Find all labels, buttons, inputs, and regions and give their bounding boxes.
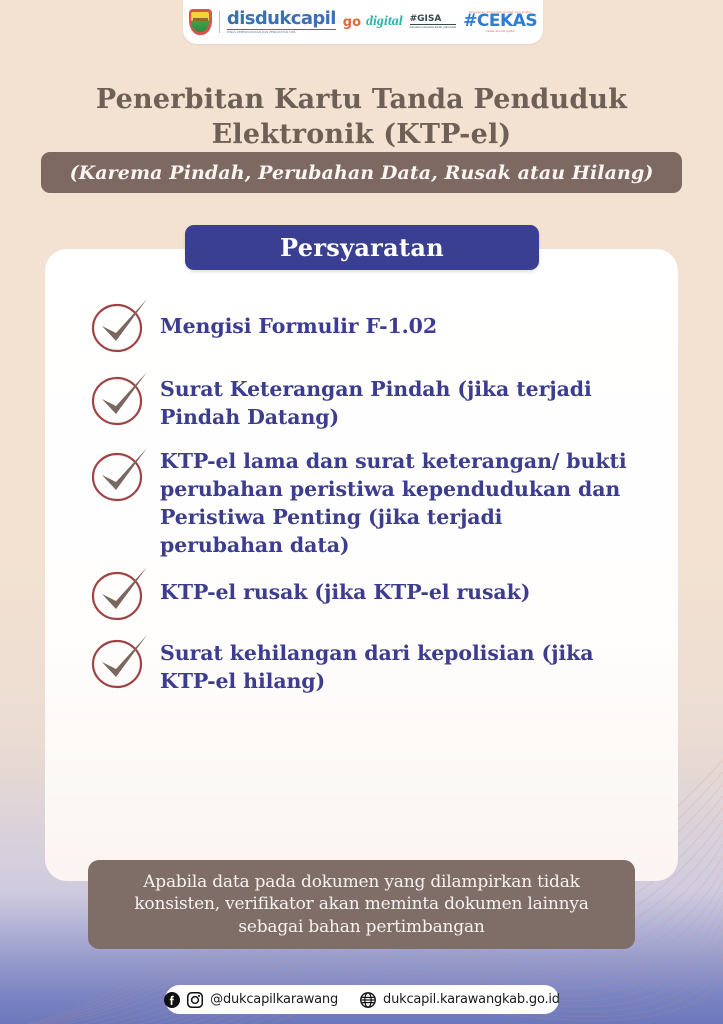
check-circle-icon [90,564,152,624]
gisa-tagline: Gerakan Indonesia Sadar Adminduk [410,24,457,30]
requirement-item: Mengisi Formulir F-1.02 [90,296,670,356]
requirement-text: Surat Keterangan Pindah (jika terjadi Pi… [160,369,630,432]
karawang-crest-icon [189,9,212,35]
go-text: go [343,16,361,29]
check-circle-icon [90,296,152,356]
requirement-text: KTP-el lama dan surat keterangan/ bukti … [160,445,630,560]
disdukcapil-tagline: DINAS KEPENDUDUKAN DAN PENCATATAN SIPIL [227,29,336,35]
logo-bar: disdukcapil DINAS KEPENDUDUKAN DAN PENCA… [183,0,543,44]
globe-icon[interactable] [360,992,376,1008]
website-url[interactable]: dukcapil.karawangkab.go.id [383,992,560,1007]
instagram-icon[interactable] [187,992,203,1008]
check-circle-icon [90,369,152,429]
poster-root: disdukcapil DINAS KEPENDUDUKAN DAN PENCA… [0,0,723,1024]
requirement-text: Mengisi Formulir F-1.02 [160,296,437,340]
social-handle[interactable]: @dukcapilkarawang [210,992,338,1007]
gisa-logo: #GISA Gerakan Indonesia Sadar Adminduk [410,15,457,30]
page-title-line1: Penerbitan Kartu Tanda Penduduk [40,82,683,117]
page-title-line2: Elektronik (KTP-el) [40,117,683,152]
gisa-wordmark: #GISA [410,15,457,24]
cekas-logo: Pelayanan adminduk mudah dan gratis #CEK… [463,11,537,34]
note-text: Apabila data pada dokumen yang dilampirk… [102,871,621,939]
requirement-item: KTP-el lama dan surat keterangan/ bukti … [90,445,670,560]
go-digital-logo: go digital [343,15,403,29]
check-circle-icon [90,445,152,505]
subtitle-bar: (Karema Pindah, Perubahan Data, Rusak at… [41,152,682,193]
requirement-item: Surat Keterangan Pindah (jika terjadi Pi… [90,369,670,432]
persyaratan-banner: Persyaratan [185,225,539,270]
subtitle-text: (Karema Pindah, Perubahan Data, Rusak at… [70,162,654,184]
footer-contact-bar: @dukcapilkarawang dukcapil.karawangkab.g… [165,985,559,1014]
cekas-wordmark: #CEKAS [463,13,537,30]
digital-text: digital [366,15,403,29]
requirement-text: Surat kehilangan dari kepolisian (jika K… [160,632,630,696]
facebook-icon[interactable] [164,992,180,1008]
logo-divider [219,11,220,33]
disdukcapil-logo: disdukcapil DINAS KEPENDUDUKAN DAN PENCA… [227,10,336,35]
requirement-item: Surat kehilangan dari kepolisian (jika K… [90,632,670,696]
persyaratan-label: Persyaratan [280,233,444,262]
note-box: Apabila data pada dokumen yang dilampirk… [88,860,635,949]
disdukcapil-wordmark: disdukcapil [227,10,336,28]
check-circle-icon [90,632,152,692]
requirement-text: KTP-el rusak (jika KTP-el rusak) [160,564,530,606]
requirement-item: KTP-el rusak (jika KTP-el rusak) [90,564,670,624]
page-title: Penerbitan Kartu Tanda Penduduk Elektron… [0,82,723,152]
requirements-list: Mengisi Formulir F-1.02 Surat Keterangan… [90,296,670,708]
